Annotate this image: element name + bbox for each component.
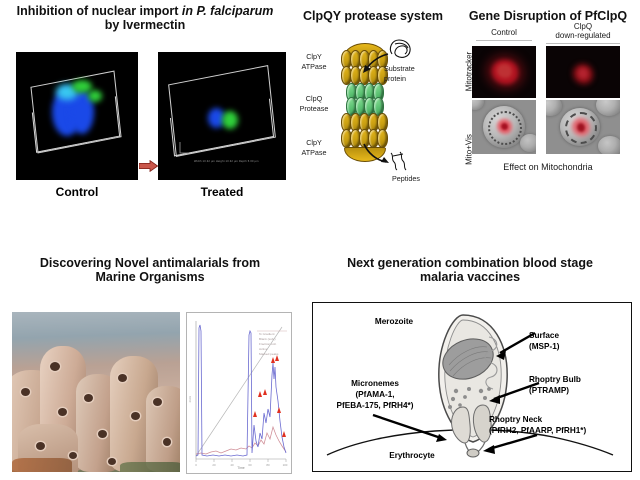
svg-text:20: 20 — [212, 463, 216, 467]
label-surface-line1: Surface — [529, 331, 621, 341]
label-clpq-protease-line1: ClpQ — [288, 94, 340, 103]
confocal-image-treated: Width 10.32 µm Height 10.32 µm Depth 5.0… — [158, 52, 286, 180]
scientific-figure-panel: Inhibition of nuclear import in P. falci… — [0, 0, 640, 480]
panel-pfclpq-title: Gene Disruption of PfClpQ — [456, 0, 640, 23]
panel-vaccines-title-line2: malaria vaccines — [312, 270, 628, 284]
title-part-italic: in P. falciparum — [182, 4, 273, 18]
merozoite-diagram: Merozoite Surface (MSP-1) Rhoptry Bulb (… — [312, 302, 632, 472]
marine-sponge-photo — [12, 312, 180, 472]
label-rhoptry-neck-line2: (PfRH2, PfAARP, PfRH1*) — [489, 426, 631, 436]
label-peptides: Peptides — [380, 174, 432, 183]
column-header-control: Control — [472, 28, 536, 37]
confocal-image-row: Width 10.32 µm Height 10.32 µm Depth 5.0… — [8, 52, 282, 180]
panel-marine: Discovering Novel antimalarials from Mar… — [0, 250, 300, 480]
label-clpy-atpase-bottom-line1: ClpY — [290, 138, 338, 147]
label-rhoptry-bulb-line1: Rhoptry Bulb — [529, 375, 629, 385]
panel-vaccines-title: Next generation combination blood stage … — [300, 250, 640, 285]
svg-text:Fraction coll.: Fraction coll. — [259, 342, 277, 346]
image-mitotracker-clpq-down — [546, 46, 620, 98]
label-merozoite: Merozoite — [351, 317, 437, 327]
svg-text:40: 40 — [230, 463, 234, 467]
svg-text:Active: Active — [259, 347, 268, 351]
title-part-2: by Ivermectin — [105, 18, 186, 32]
confocal-image-control — [16, 52, 138, 180]
panel-vaccines: Next generation combination blood stage … — [300, 250, 640, 480]
panel-pfclpq-footer: Effect on Mitochondria — [456, 162, 640, 172]
title-part-1: Inhibition of nuclear import — [17, 4, 182, 18]
panel-marine-title-line1: Discovering Novel antimalarials from — [10, 256, 290, 270]
axis-indicator-icon — [178, 140, 190, 156]
label-clpy-atpase-top-line2: ATPase — [290, 62, 338, 71]
image-mitotracker-control — [472, 46, 536, 98]
chromatogram-chart: % Gradient Blank (sub.) Fraction coll. A… — [186, 312, 292, 474]
label-surface-line2: (MSP-1) — [529, 342, 621, 352]
transition-arrow-icon — [139, 160, 158, 172]
svg-text:Blank (sub.): Blank (sub.) — [259, 337, 276, 341]
arrow-rhoptry-neck — [483, 435, 537, 454]
clpq-ring-2 — [346, 97, 382, 114]
label-rhoptry-neck-line1: Rhoptry Neck — [489, 415, 629, 425]
panel-ivermectin-title: Inhibition of nuclear import in P. falci… — [0, 0, 290, 33]
image-mito-vis-clpq-down — [546, 100, 620, 154]
peptides-icon — [388, 150, 412, 172]
label-substrate-line2: protein — [384, 74, 434, 83]
image-mito-vis-control — [472, 100, 536, 154]
caption-control: Control — [16, 185, 138, 199]
label-erythrocyte: Erythrocyte — [357, 451, 467, 461]
column-header-clpq-line1: ClpQ — [540, 22, 626, 31]
column-rule-clpq — [546, 43, 620, 44]
label-micronemes-line2: (PfAMA-1, — [317, 390, 433, 400]
panel-clpqy: ClpQY protease system ClpY ATPase ClpQ P… — [288, 0, 458, 225]
clpqy-diagram: ClpY ATPase ClpQ Protease ClpY ATPase — [288, 34, 458, 212]
svg-text:100: 100 — [283, 463, 288, 467]
clpy-ring-bottom-1 — [341, 113, 387, 130]
label-micronemes-line1: Micronemes — [317, 379, 433, 389]
chromatogram-svg: % Gradient Blank (sub.) Fraction coll. A… — [187, 313, 291, 473]
label-rhoptry-bulb-line2: (PTRAMP) — [529, 386, 629, 396]
scale-bar-text: Width 10.32 µm Height 10.32 µm Depth 5.0… — [194, 160, 259, 163]
caption-treated: Treated — [158, 185, 286, 199]
label-clpy-atpase-top-line1: ClpY — [290, 52, 338, 61]
svg-text:0: 0 — [195, 463, 197, 467]
label-clpy-atpase-bottom-line2: ATPase — [290, 148, 338, 157]
svg-text:Time: Time — [237, 466, 245, 470]
label-clpq-protease-line2: Protease — [288, 104, 340, 113]
panel-ivermectin: Inhibition of nuclear import in P. falci… — [0, 0, 290, 225]
panel-marine-title-line2: Marine Organisms — [10, 270, 290, 284]
svg-text:% Gradient: % Gradient — [259, 332, 275, 336]
svg-text:Marked peaks: Marked peaks — [259, 352, 279, 356]
panel-vaccines-title-line1: Next generation combination blood stage — [312, 256, 628, 270]
svg-text:60: 60 — [248, 463, 252, 467]
svg-text:mAU: mAU — [188, 396, 192, 403]
label-micronemes-line3: PfEBA-175, PfRH4*) — [313, 401, 437, 411]
panel-clpqy-title: ClpQY protease system — [288, 0, 458, 23]
substrate-protein-icon — [386, 36, 416, 62]
column-rule-control — [476, 40, 532, 41]
column-header-clpq-line2: down-regulated — [540, 31, 626, 40]
svg-text:80: 80 — [266, 463, 270, 467]
peptide-exit-arrow-icon — [362, 142, 390, 166]
panel-marine-title: Discovering Novel antimalarials from Mar… — [0, 250, 300, 285]
label-substrate-line1: Substrate — [384, 64, 434, 73]
panel-pfclpq: Gene Disruption of PfClpQ Control ClpQ d… — [456, 0, 640, 225]
